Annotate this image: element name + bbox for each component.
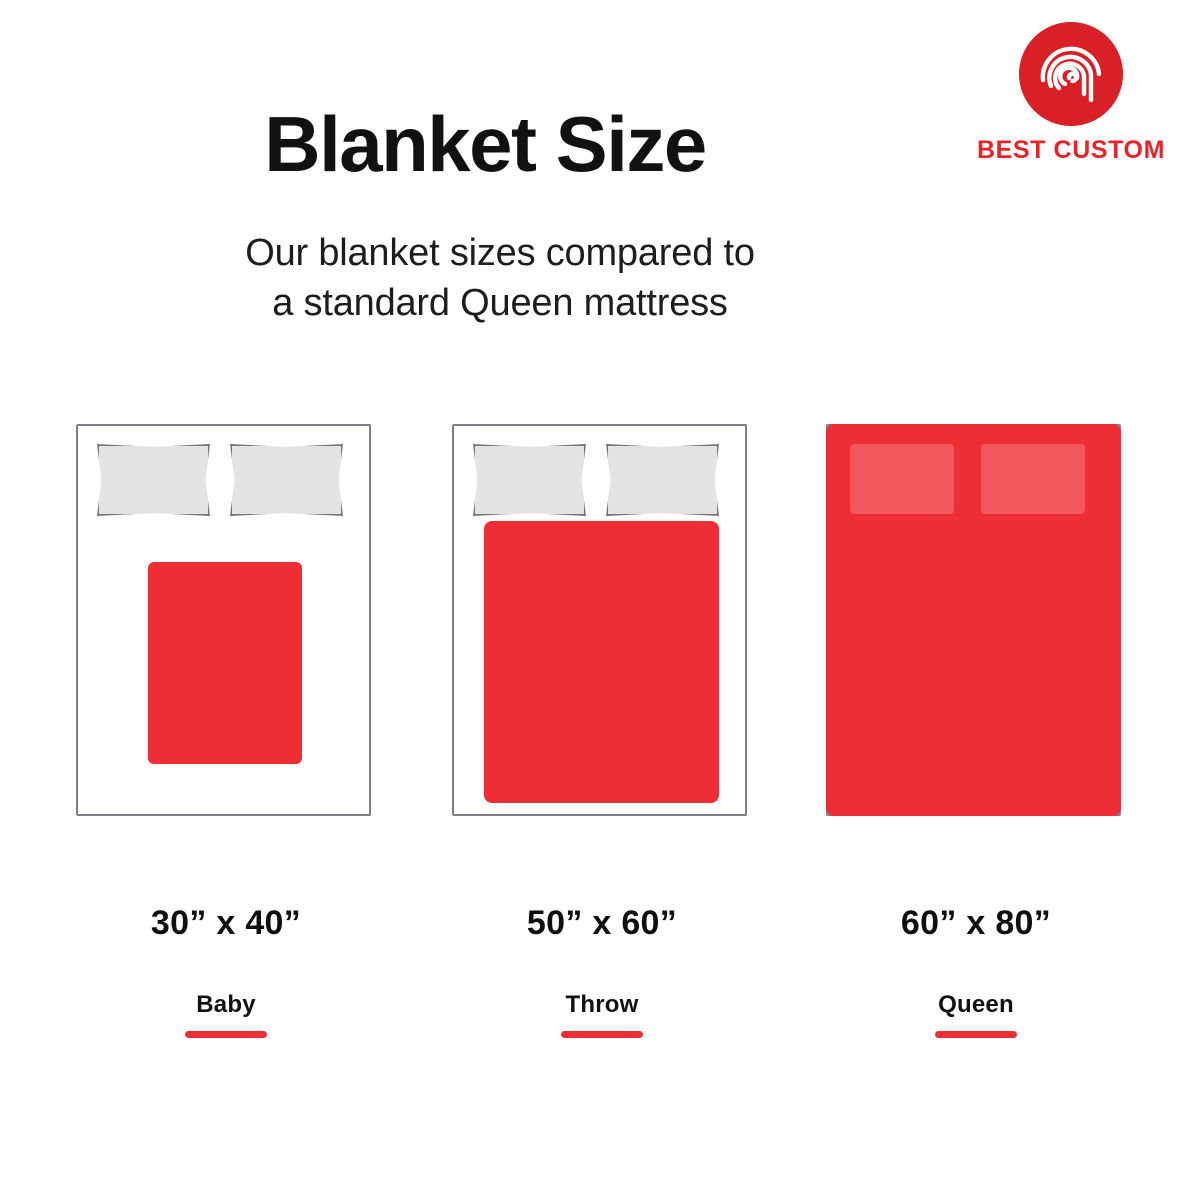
dimension-label-queen: 60” x 80” (826, 904, 1126, 943)
size-name-throw: Throw (452, 991, 752, 1019)
size-name-queen: Queen (826, 991, 1126, 1019)
blanket-throw (484, 521, 719, 803)
dimension-label-throw: 50” x 60” (452, 904, 752, 943)
pillow-left-icon (473, 444, 586, 516)
pillow-left-icon (97, 444, 210, 516)
caption-queen: 60” x 80” Queen (826, 904, 1126, 1038)
pillow-right-icon (230, 444, 343, 516)
mattress-outline-baby (76, 424, 371, 816)
mattress-outline-throw (452, 424, 747, 816)
underline-bar-throw (561, 1031, 643, 1038)
blanket-baby (148, 562, 302, 764)
bed-column-baby: 30” x 40” Baby (76, 424, 376, 816)
dimension-label-baby: 30” x 40” (76, 904, 376, 943)
underline-bar-queen (935, 1031, 1017, 1038)
pillow-right-icon (981, 444, 1085, 514)
bed-column-queen: 60” x 80” Queen (826, 424, 1126, 816)
page-title: Blanket Size (0, 104, 1200, 186)
pillow-right-icon (606, 444, 719, 516)
pillow-left-icon (850, 444, 954, 514)
caption-baby: 30” x 40” Baby (76, 904, 376, 1038)
infographic-page: BEST CUSTOM Blanket Size Our blanket siz… (0, 0, 1200, 1200)
caption-throw: 50” x 60” Throw (452, 904, 752, 1038)
bed-column-throw: 50” x 60” Throw (452, 424, 752, 816)
blanket-queen (826, 424, 1121, 816)
size-name-baby: Baby (76, 991, 376, 1019)
underline-bar-baby (185, 1031, 267, 1038)
bed-comparison-group: 30” x 40” Baby 50” x 60” Throw (0, 424, 1200, 1044)
page-subtitle: Our blanket sizes compared to a standard… (0, 228, 1200, 328)
mattress-outline-queen (826, 424, 1121, 816)
